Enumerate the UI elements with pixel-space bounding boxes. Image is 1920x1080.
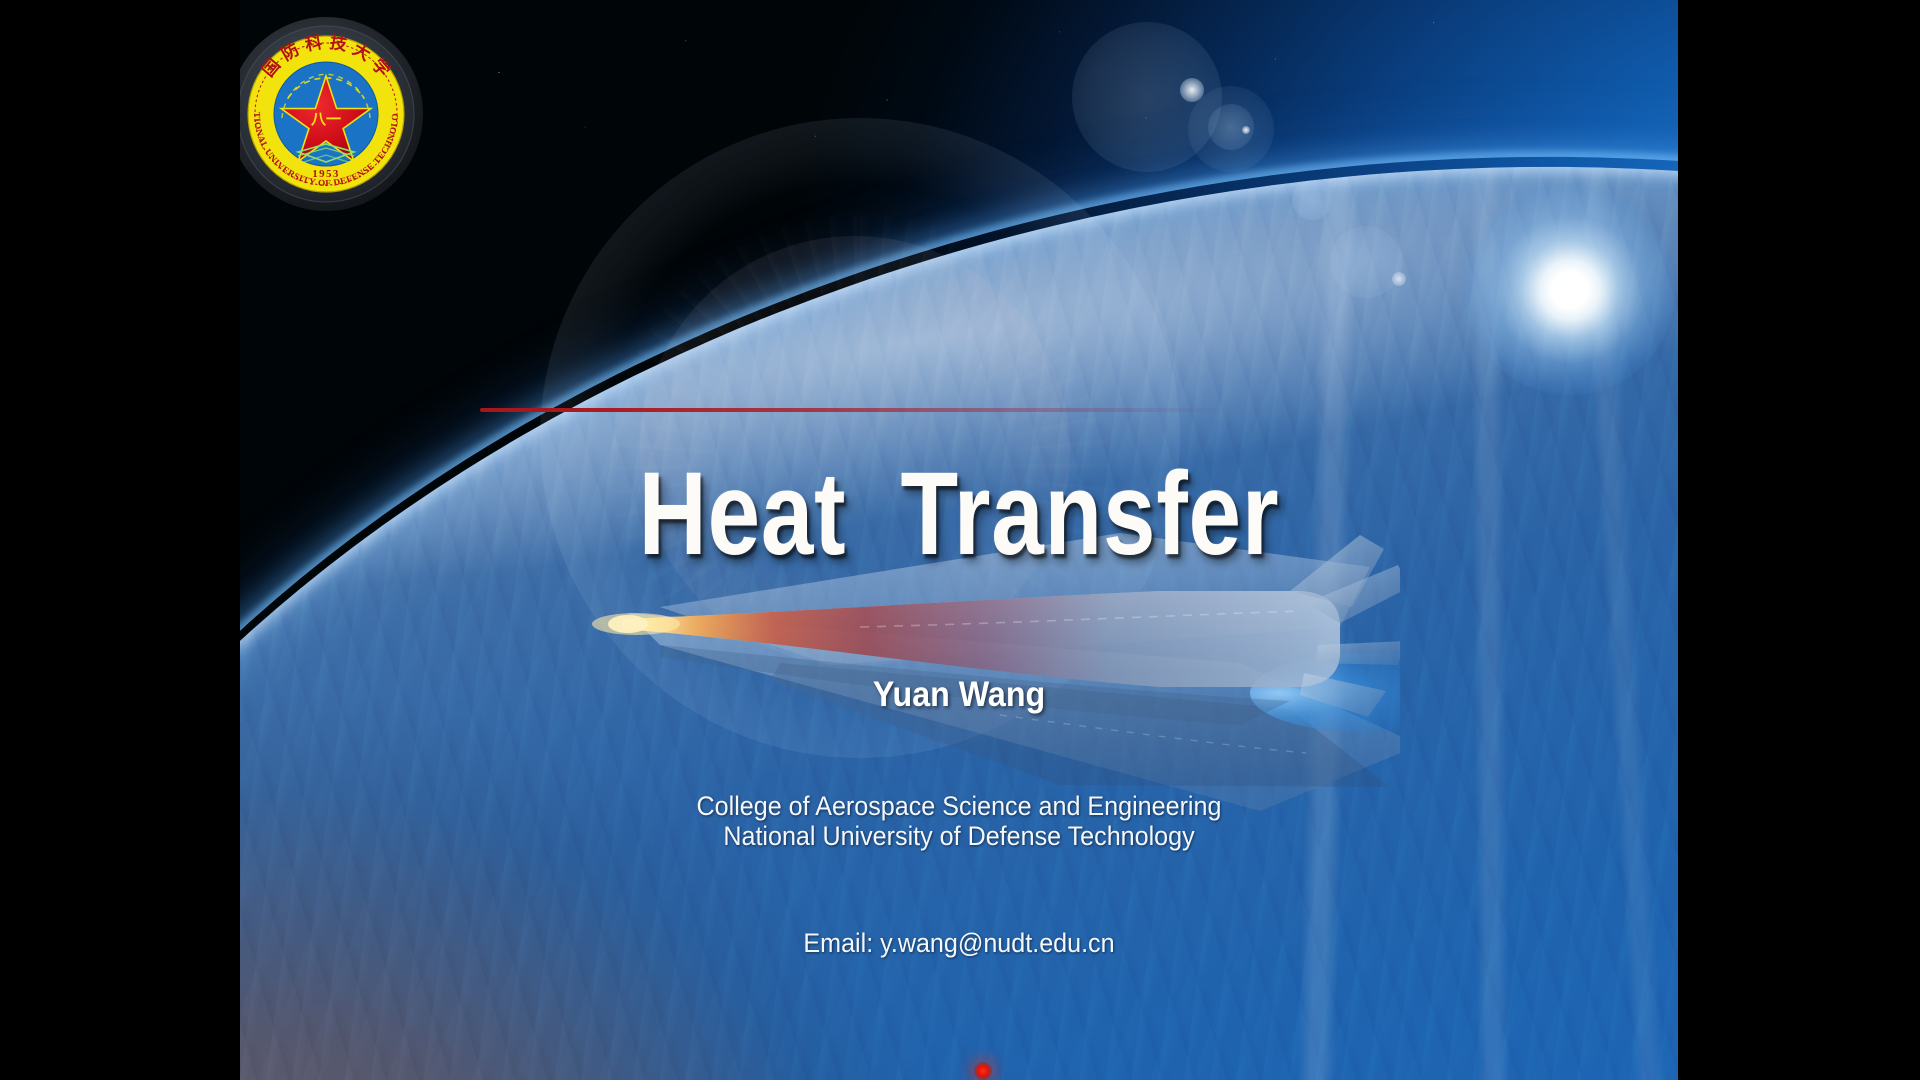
letterbox-left [0,0,240,1080]
lens-flare-ring-2 [1458,390,1514,446]
accent-rule [480,408,1232,412]
lens-flare-hotspot-1 [1180,78,1204,102]
letterbox-right [1678,0,1920,1080]
nudt-university-emblem: 八一 1953 国 防 科 技 大 学 NATIONAL UNIVERSITY … [240,14,426,214]
page-title: Heat Transfer [384,455,1534,573]
svg-text:八一: 八一 [310,110,341,128]
affiliation-line-2: National University of Defense Technolog… [290,822,1627,852]
lens-flare-disc-5 [1330,226,1402,298]
affiliation: College of Aerospace Science and Enginee… [290,792,1627,851]
sun-glare-icon [1465,185,1675,395]
slide-canvas: Heat Transfer Yuan Wang College of Aeros… [240,0,1678,1080]
laser-pointer-dot [974,1062,992,1080]
lens-flare-hotspot-2 [1242,126,1250,134]
author-name: Yuan Wang [298,675,1621,715]
lens-flare-disc-4 [1292,180,1332,220]
contact-email: Email: y.wang@nudt.edu.cn [290,928,1627,959]
presentation-screen: Heat Transfer Yuan Wang College of Aeros… [0,0,1920,1080]
affiliation-line-1: College of Aerospace Science and Enginee… [290,792,1627,822]
lens-flare-hotspot-3 [1392,272,1406,286]
